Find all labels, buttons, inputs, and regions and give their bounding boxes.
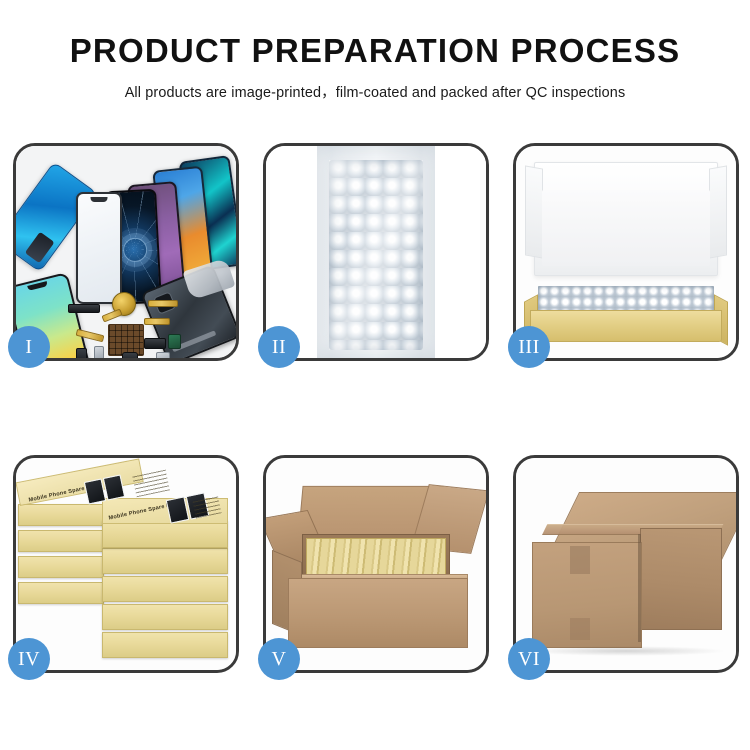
screen-protector-glass-icon: [76, 192, 122, 304]
step-badge-4: IV: [8, 638, 50, 680]
small-part-icon: [76, 348, 87, 358]
flex-cable-icon: [148, 300, 178, 307]
step-badge-6: VI: [508, 638, 550, 680]
metal-bracket-icon: [156, 352, 170, 358]
process-step-panel-5[interactable]: V: [263, 455, 489, 673]
carton-flap-tab-icon: [570, 546, 590, 574]
process-step-panel-2[interactable]: II: [263, 143, 489, 361]
black-connector-bar-icon: [68, 304, 100, 313]
process-step-panel-1[interactable]: I: [13, 143, 239, 361]
step-1-image: [16, 146, 236, 358]
carton-seam-icon: [638, 534, 641, 642]
step-3-image: [516, 146, 736, 358]
step-badge-5: V: [258, 638, 300, 680]
process-step-panel-6[interactable]: VI: [513, 455, 739, 673]
process-step-panel-4[interactable]: Mobile Phone Spare Parts Mobile Phone Sp…: [13, 455, 239, 673]
carton-shadow-icon: [526, 646, 726, 656]
process-step-grid: I II III: [13, 143, 739, 673]
bubble-wrap-sheet-icon: [317, 146, 435, 358]
bubble-pattern-icon: [329, 160, 423, 350]
kraft-box-icon: [102, 548, 228, 574]
step-badge-2: II: [258, 326, 300, 368]
phone-notch-icon: [27, 281, 48, 291]
page-subtitle: All products are image-printed，film-coat…: [0, 81, 750, 102]
kraft-box-printed-icon: [102, 520, 228, 548]
carton-flap-tab-icon: [570, 618, 590, 640]
step-badge-1: I: [8, 326, 50, 368]
header: PRODUCT PREPARATION PROCESS All products…: [0, 0, 750, 102]
kraft-box-front-icon: [530, 310, 722, 342]
foam-insert-icon: [542, 190, 710, 266]
kraft-box-icon: [18, 582, 104, 604]
process-step-panel-3[interactable]: III: [513, 143, 739, 361]
kraft-box-icon: [102, 604, 228, 630]
kraft-box-stack-icon: Mobile Phone Spare Parts Mobile Phone Sp…: [16, 458, 236, 670]
step-5-image: [266, 458, 486, 670]
step-6-image: [516, 458, 736, 670]
camera-part-icon: [122, 352, 138, 358]
small-part-icon: [144, 338, 166, 349]
green-chip-icon: [168, 334, 181, 349]
step-badge-3: III: [508, 326, 550, 368]
page-title: PRODUCT PREPARATION PROCESS: [0, 34, 750, 69]
kraft-box-icon: [18, 504, 104, 526]
kraft-box-icon: [18, 530, 104, 552]
flex-cable-icon: [144, 318, 170, 325]
kraft-box-icon: [18, 556, 104, 578]
step-4-image: Mobile Phone Spare Parts Mobile Phone Sp…: [16, 458, 236, 670]
kraft-box-icon: [102, 576, 228, 602]
metal-bracket-icon: [94, 346, 104, 358]
kraft-box-icon: [102, 632, 228, 658]
phone-notch-icon: [91, 197, 108, 202]
carton-side-face-icon: [640, 528, 722, 630]
carton-front-face-icon: [288, 578, 468, 648]
step-2-image: [266, 146, 486, 358]
